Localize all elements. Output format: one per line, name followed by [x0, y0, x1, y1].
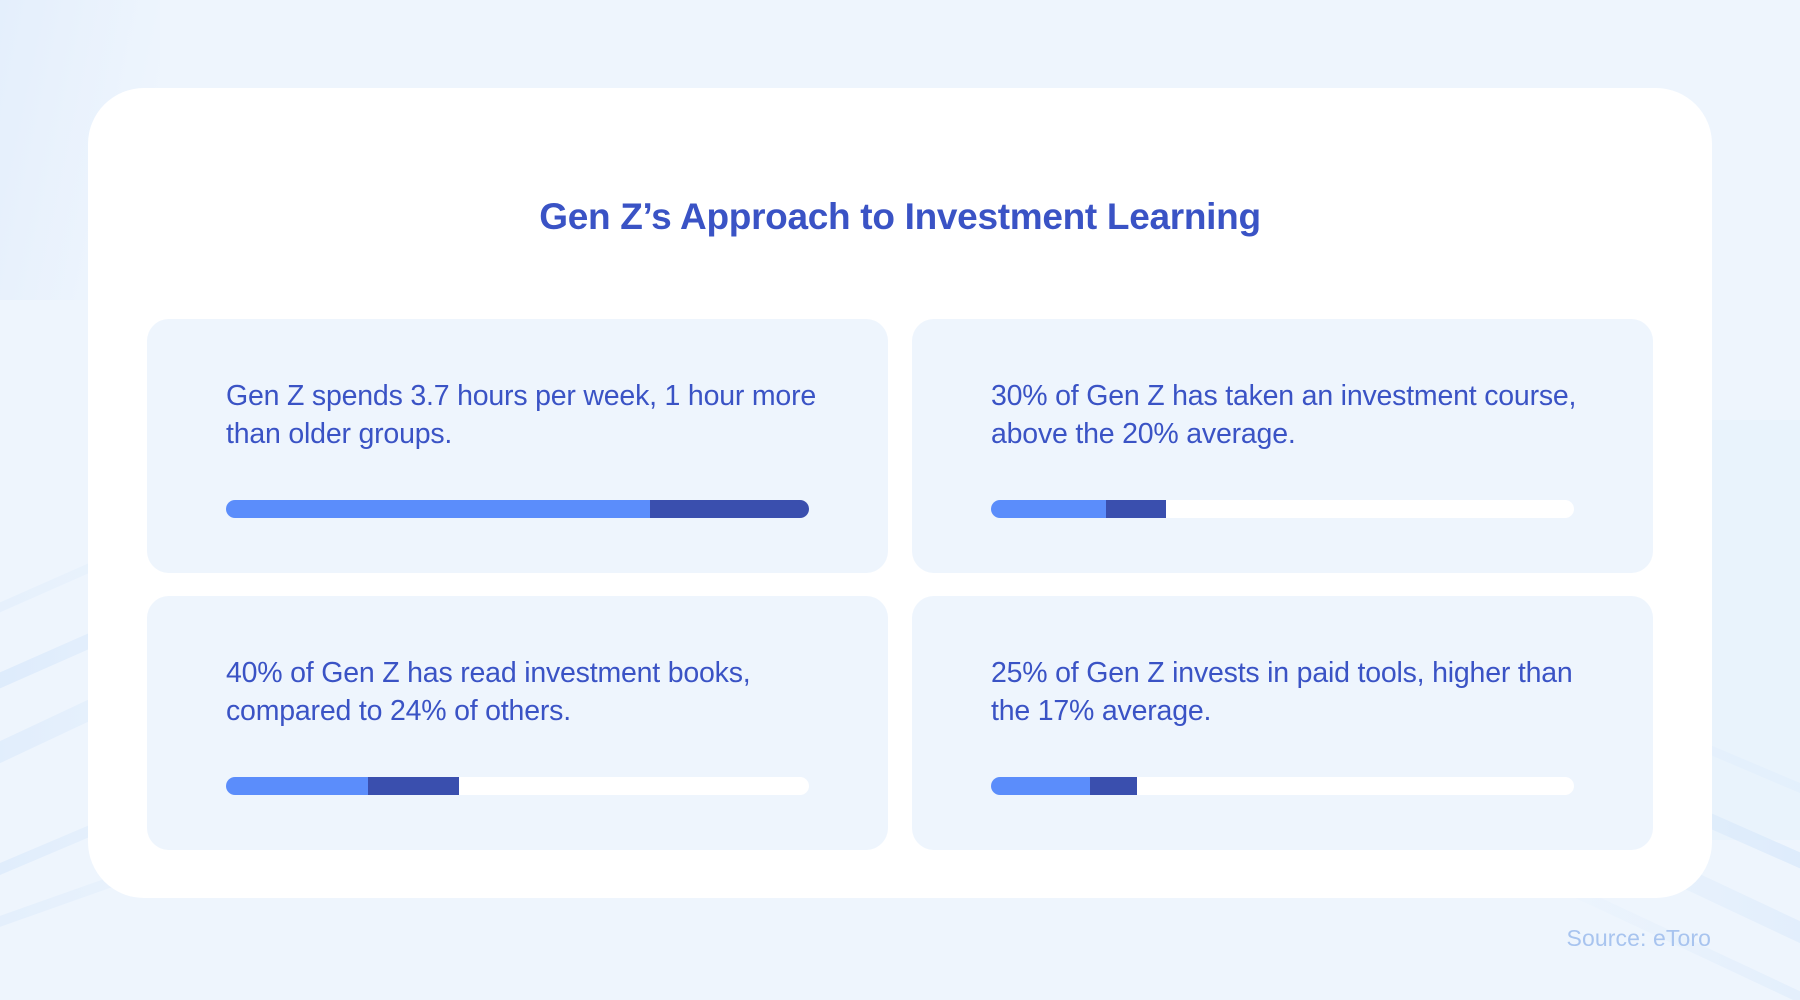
page-title: Gen Z’s Approach to Investment Learning — [88, 195, 1712, 239]
infographic-panel: Gen Z’s Approach to Investment Learning … — [88, 88, 1712, 898]
progress-bar-segment-secondary — [1090, 777, 1137, 795]
stat-card-text: 25% of Gen Z invests in paid tools, high… — [991, 655, 1591, 731]
progress-bar — [226, 500, 809, 518]
progress-bar-segment-primary — [226, 500, 650, 518]
stat-card-text: Gen Z spends 3.7 hours per week, 1 hour … — [226, 378, 826, 454]
progress-bar-segment-secondary — [650, 500, 809, 518]
stat-card-grid: Gen Z spends 3.7 hours per week, 1 hour … — [147, 319, 1653, 850]
progress-bar-segment-primary — [226, 777, 368, 795]
source-attribution: Source: eToro — [1567, 925, 1712, 952]
progress-bar-segment-secondary — [1106, 500, 1165, 518]
stat-card-investment-books: 40% of Gen Z has read investment books, … — [147, 596, 888, 850]
progress-bar-segment-primary — [991, 777, 1090, 795]
stat-card-text: 40% of Gen Z has read investment books, … — [226, 655, 826, 731]
stat-card-text: 30% of Gen Z has taken an investment cou… — [991, 378, 1591, 454]
progress-bar — [226, 777, 809, 795]
progress-bar-segment-primary — [991, 500, 1106, 518]
progress-bar — [991, 500, 1574, 518]
stat-card-hours-per-week: Gen Z spends 3.7 hours per week, 1 hour … — [147, 319, 888, 573]
progress-bar — [991, 777, 1574, 795]
stat-card-investment-course: 30% of Gen Z has taken an investment cou… — [912, 319, 1653, 573]
stat-card-paid-tools: 25% of Gen Z invests in paid tools, high… — [912, 596, 1653, 850]
progress-bar-segment-secondary — [368, 777, 459, 795]
